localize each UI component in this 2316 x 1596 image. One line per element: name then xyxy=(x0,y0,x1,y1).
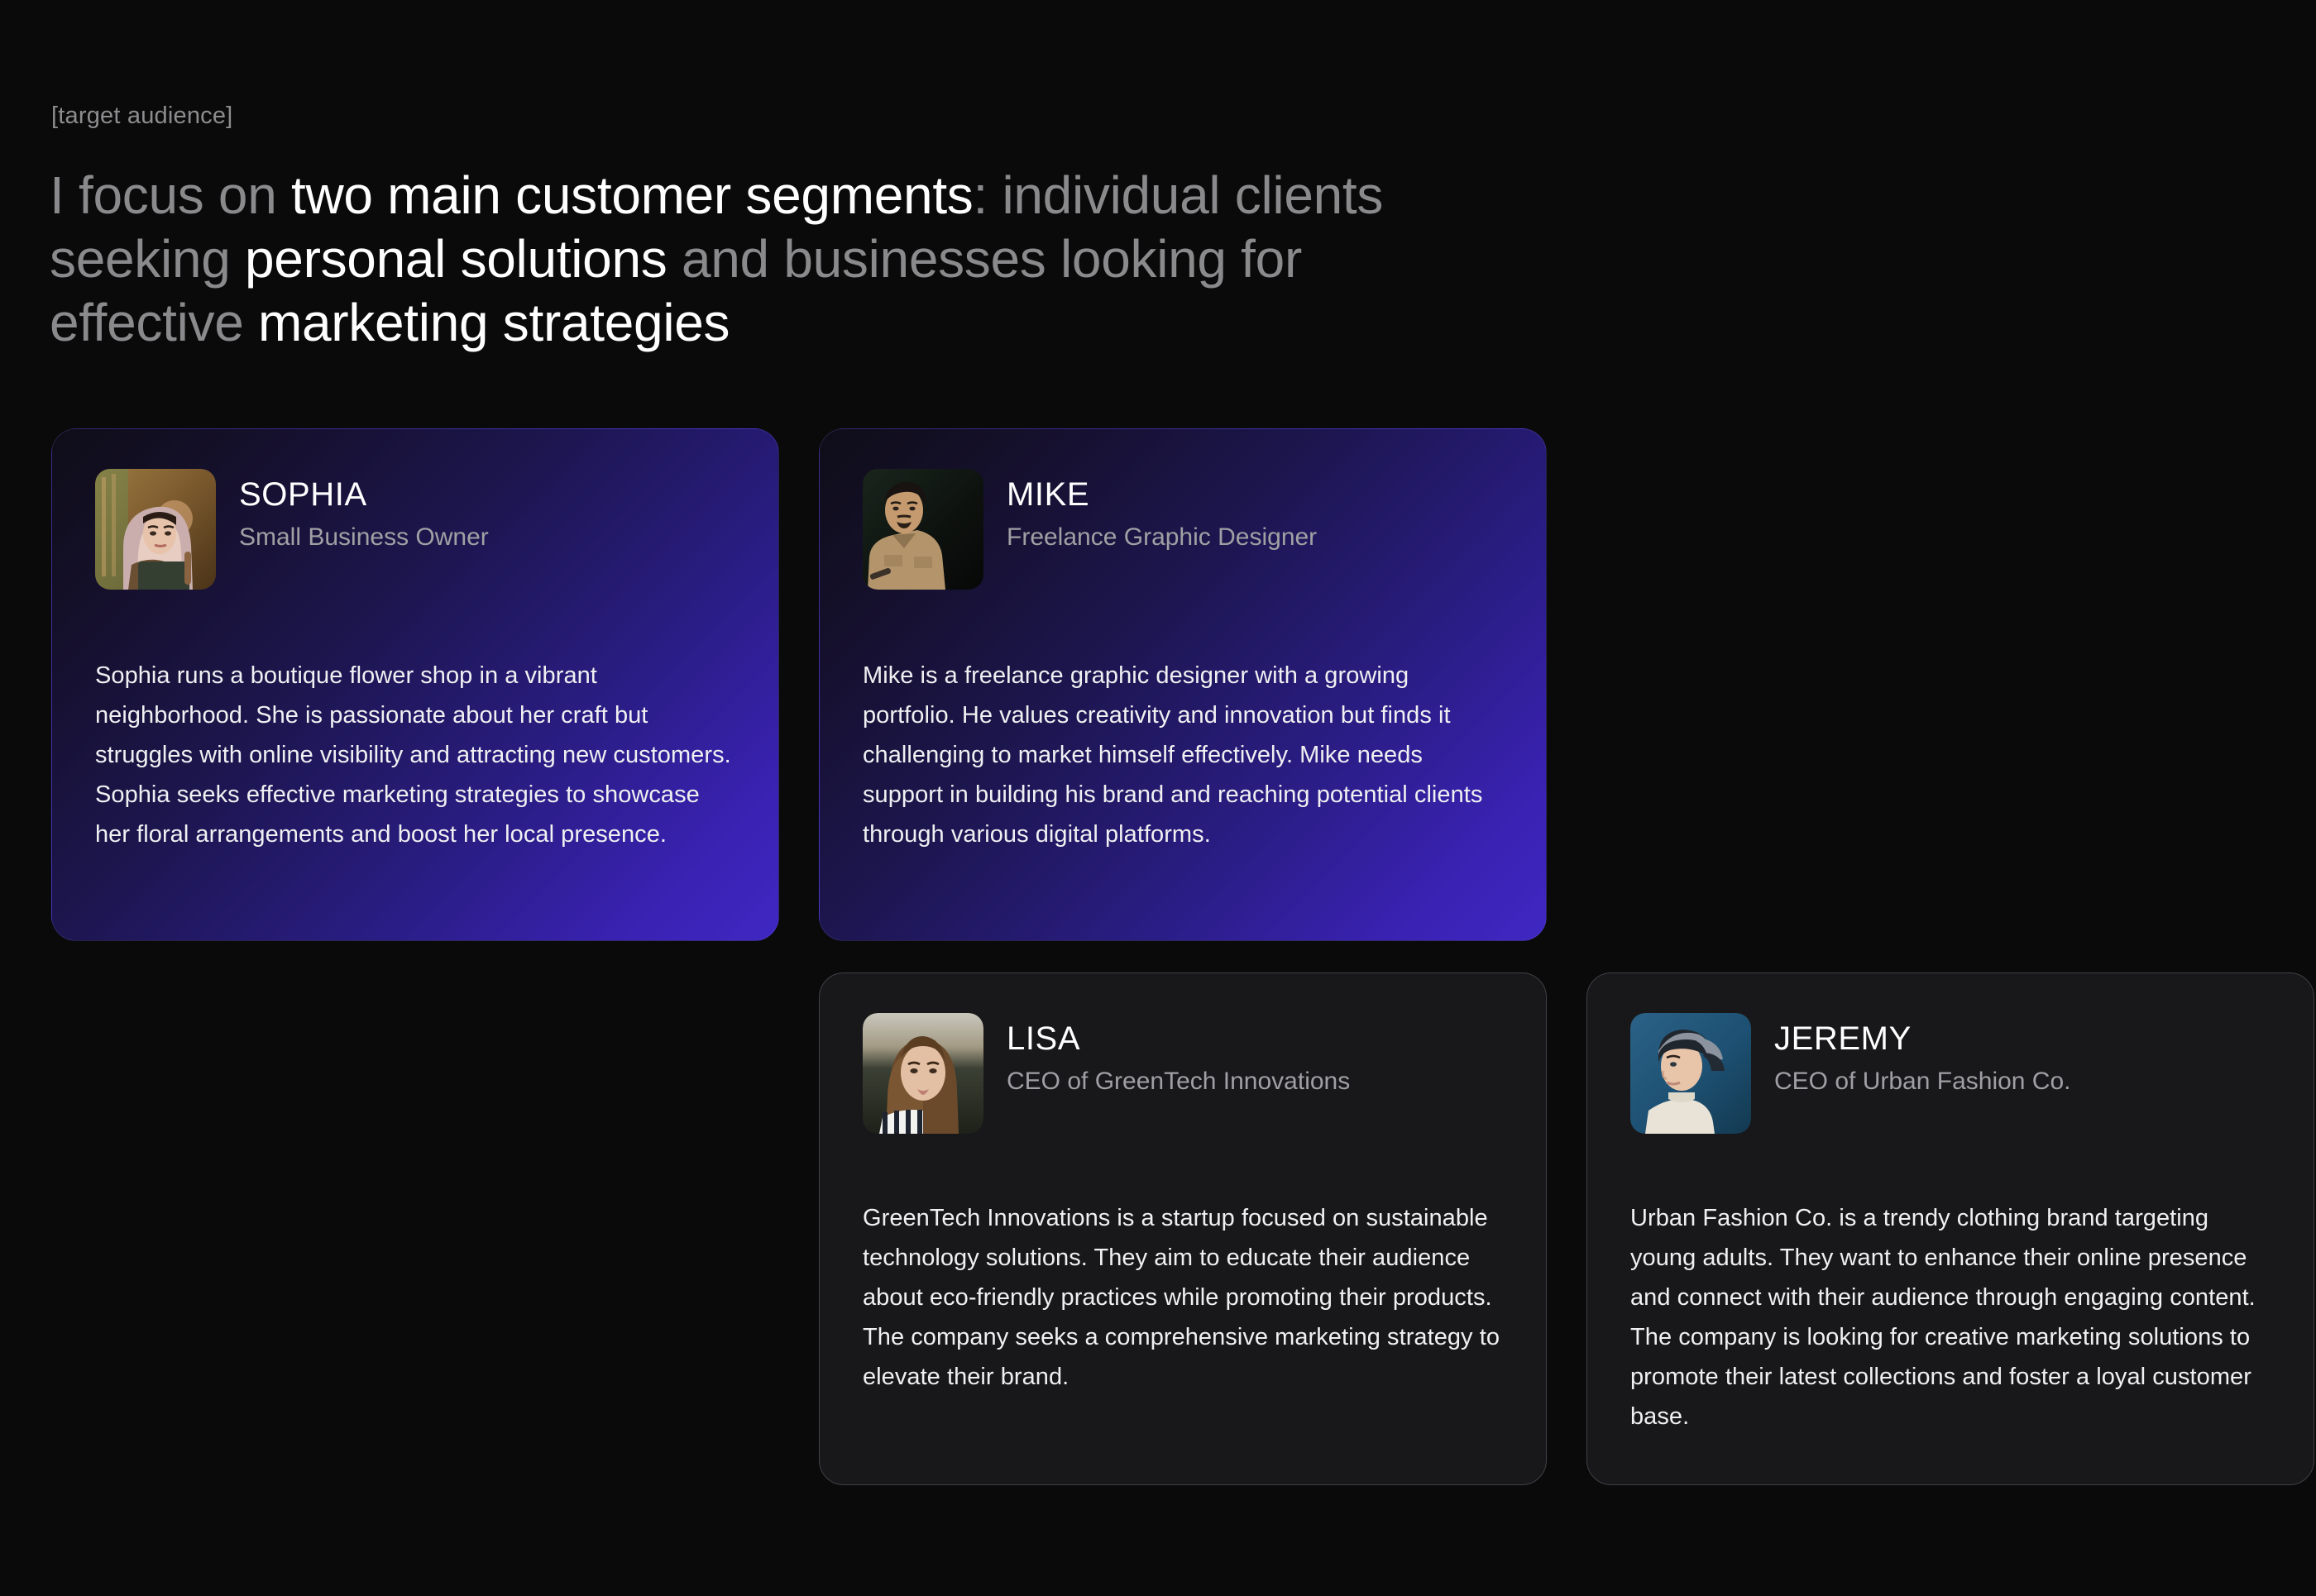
persona-role: Small Business Owner xyxy=(239,523,489,552)
persona-identity: JEREMY CEO of Urban Fashion Co. xyxy=(1774,1013,2071,1096)
persona-name: JEREMY xyxy=(1774,1021,2071,1056)
persona-bio: Urban Fashion Co. is a trendy clothing b… xyxy=(1630,1198,2271,1436)
persona-role: Freelance Graphic Designer xyxy=(1007,523,1317,552)
avatar-jeremy xyxy=(1630,1013,1751,1134)
persona-header: LISA CEO of GreenTech Innovations xyxy=(863,1013,1503,1134)
persona-role: CEO of Urban Fashion Co. xyxy=(1774,1068,2071,1096)
headline-segment-4-emphasis: personal solutions xyxy=(245,229,667,289)
persona-card-grid: SOPHIA Small Business Owner Sophia runs … xyxy=(51,428,2265,1485)
target-audience-page: [target audience] I focus on two main cu… xyxy=(0,0,2316,1596)
persona-card-mike[interactable]: MIKE Freelance Graphic Designer Mike is … xyxy=(819,428,1547,941)
persona-card-lisa[interactable]: LISA CEO of GreenTech Innovations GreenT… xyxy=(819,972,1547,1485)
persona-card-jeremy[interactable]: JEREMY CEO of Urban Fashion Co. Urban Fa… xyxy=(1586,972,2314,1485)
avatar-mike xyxy=(863,469,983,590)
persona-identity: LISA CEO of GreenTech Innovations xyxy=(1007,1013,1350,1096)
page-headline: I focus on two main customer segments: i… xyxy=(50,164,1472,355)
persona-name: SOPHIA xyxy=(239,477,489,512)
avatar-lisa xyxy=(863,1013,983,1134)
section-eyebrow-label: [target audience] xyxy=(51,103,232,130)
headline-segment-6-emphasis: marketing strategies xyxy=(258,293,730,352)
persona-role: CEO of GreenTech Innovations xyxy=(1007,1068,1350,1096)
persona-name: LISA xyxy=(1007,1021,1350,1056)
persona-header: SOPHIA Small Business Owner xyxy=(95,469,735,590)
persona-bio: Sophia runs a boutique flower shop in a … xyxy=(95,656,735,854)
headline-segment-2-emphasis: two main customer segments xyxy=(291,165,974,225)
persona-header: MIKE Freelance Graphic Designer xyxy=(863,469,1503,590)
persona-bio: Mike is a freelance graphic designer wit… xyxy=(863,656,1503,854)
avatar-sophia xyxy=(95,469,216,590)
headline-segment-1: I focus on xyxy=(50,165,291,225)
persona-identity: SOPHIA Small Business Owner xyxy=(239,469,489,552)
persona-header: JEREMY CEO of Urban Fashion Co. xyxy=(1630,1013,2271,1134)
persona-identity: MIKE Freelance Graphic Designer xyxy=(1007,469,1317,552)
persona-name: MIKE xyxy=(1007,477,1317,512)
persona-card-sophia[interactable]: SOPHIA Small Business Owner Sophia runs … xyxy=(51,428,779,941)
persona-bio: GreenTech Innovations is a startup focus… xyxy=(863,1198,1503,1397)
